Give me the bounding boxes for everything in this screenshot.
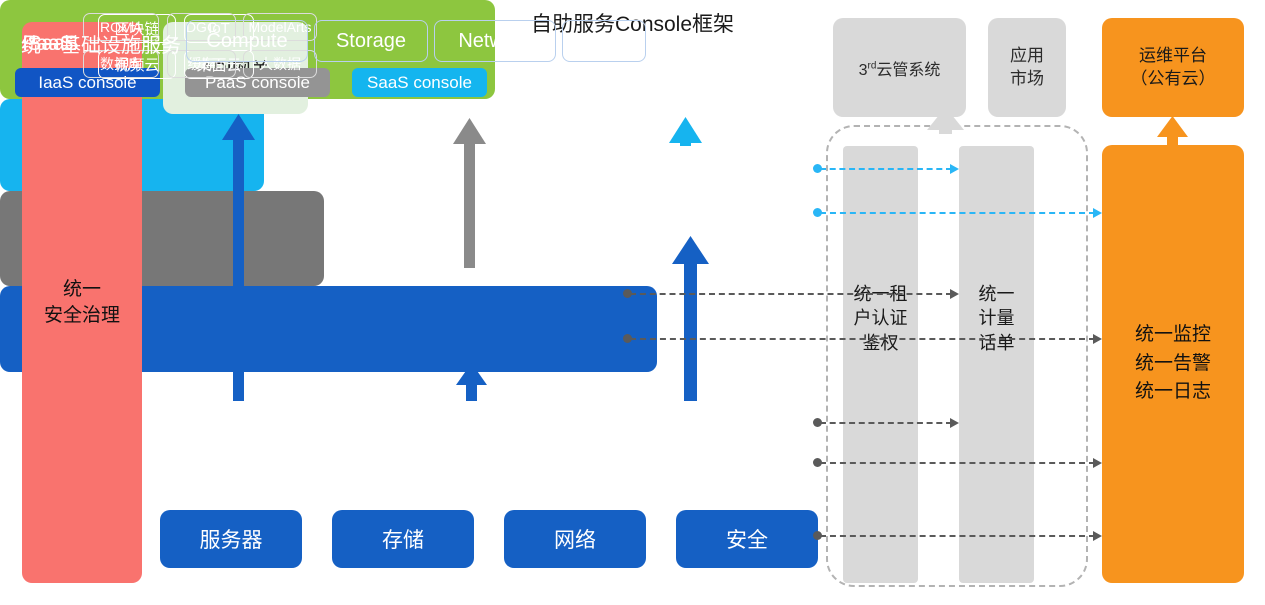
connector-arrowhead-infra-bottom xyxy=(1093,458,1102,468)
unified-security-governance-label: 统一安全治理 xyxy=(44,277,120,328)
app-market-box: 应用市场 xyxy=(988,18,1066,117)
connector-saas-to-ops-panel xyxy=(820,212,1095,214)
unified-monitoring-label: 统一监控统一告警统一日志 xyxy=(1135,321,1211,407)
connector-paas-to-tenant-auth xyxy=(630,293,952,295)
ops-platform-public-cloud-box: 运维平台（公有云） xyxy=(1102,18,1244,117)
app-market-label: 应用市场 xyxy=(1010,45,1044,89)
architecture-diagram: 统一安全治理 API网关 自助服务Console框架 IaaS console … xyxy=(0,0,1265,605)
bottom-box-network[interactable]: 网络 xyxy=(504,510,646,568)
connector-saas-to-tenant-auth xyxy=(820,168,952,170)
connector-arrowhead-saas-bottom xyxy=(1093,208,1102,218)
bottom-box-storage[interactable]: 存储 xyxy=(332,510,474,568)
connector-arrowhead-saas-top xyxy=(950,164,959,174)
arrow-infra-to-saas xyxy=(672,236,709,401)
ops-platform-public-cloud-label: 运维平台（公有云） xyxy=(1131,45,1216,89)
third-party-cloud-management-label: 3rd云管系统 xyxy=(859,56,941,80)
infra-chip-cce[interactable]: CCE xyxy=(562,20,646,62)
bottom-box-security[interactable]: 安全 xyxy=(676,510,818,568)
connector-arrowhead-infra-top xyxy=(950,418,959,428)
unified-monitoring-panel: 统一监控统一告警统一日志 xyxy=(1102,145,1244,583)
arrow-saas-to-console xyxy=(669,117,702,146)
arrow-paas-to-console xyxy=(453,118,486,268)
connector-paas-to-ops-panel xyxy=(630,338,1095,340)
unified-metering-label: 统一计量话单 xyxy=(959,282,1034,355)
third-party-cloud-management-box: 3rd云管系统 xyxy=(833,18,966,117)
connector-arrowhead-paas-bottom xyxy=(1093,334,1102,344)
infra-chip-network[interactable]: Network xyxy=(434,20,556,62)
connector-bottom-row-to-ops-panel xyxy=(820,535,1095,537)
saas-console-chip[interactable]: SaaS console xyxy=(352,68,487,97)
unified-infrastructure-label: 统一基础设施服务 xyxy=(12,29,190,58)
bottom-box-server[interactable]: 服务器 xyxy=(160,510,302,568)
arrow-ops-panel-to-ops-cloud xyxy=(1157,116,1188,145)
connector-infra-to-ops-panel xyxy=(820,462,1095,464)
connector-arrowhead-paas-top xyxy=(950,289,959,299)
infra-chip-compute[interactable]: Compute xyxy=(186,20,308,62)
connector-arrowhead-bottom-row xyxy=(1093,531,1102,541)
unified-security-governance-panel: 统一安全治理 xyxy=(22,22,142,583)
connector-infra-to-tenant-auth xyxy=(820,422,952,424)
infra-chip-storage[interactable]: Storage xyxy=(314,20,428,62)
